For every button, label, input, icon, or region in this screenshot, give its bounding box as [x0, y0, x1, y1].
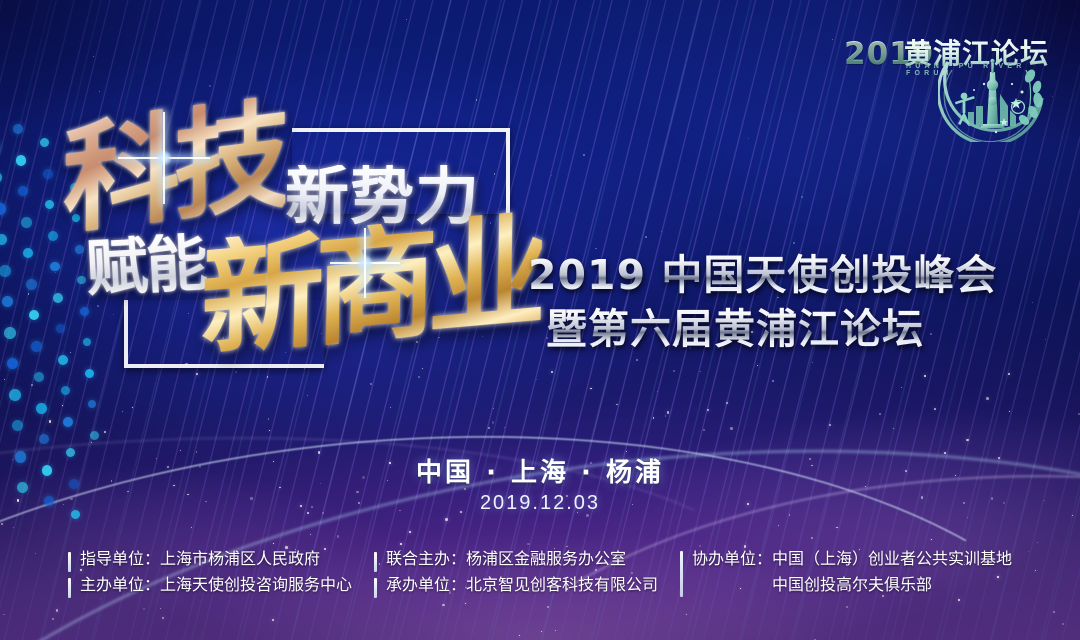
divider-bar [374, 578, 377, 598]
calligraphy-slogan: 新势力 科技 赋能 新商业 [0, 0, 540, 400]
star-dot [493, 408, 494, 409]
star-dot [986, 397, 989, 400]
star-dot [337, 535, 340, 538]
venue-date: 2019.12.03 [0, 492, 1080, 515]
star-dot [1037, 542, 1038, 543]
star-dot [409, 531, 411, 533]
double-bar-divider [374, 548, 377, 598]
star-dot [726, 402, 728, 404]
star-dot [390, 407, 391, 408]
matrix-dot [12, 420, 23, 431]
star-dot [13, 527, 14, 528]
star-dot [893, 428, 894, 429]
headline-line-2: 暨第六届黄浦江论坛 [546, 302, 1048, 356]
star-dot [541, 631, 542, 632]
star-dot [699, 545, 701, 547]
star-dot [1053, 611, 1055, 613]
star-dot [653, 417, 655, 419]
star-dot [445, 518, 448, 521]
star-dot [191, 527, 192, 528]
crescent-skyline-emblem-icon [938, 54, 1058, 142]
venue-location: 中国 · 上海 · 杨浦 [0, 452, 1080, 489]
star-dot [811, 537, 813, 539]
star-dot [3, 614, 4, 615]
matrix-dot [63, 417, 73, 427]
credits-column: 协办单位：中国（上海）创业者公共实训基地 中国创投高尔夫俱乐部 [680, 548, 1012, 597]
star-dot [967, 517, 968, 518]
star-dot [566, 546, 568, 548]
double-bar-divider [68, 548, 71, 598]
star-dot [730, 427, 733, 430]
star-dot [492, 421, 495, 424]
credit-line: 协办单位：中国（上海）创业者公共实训基地 [692, 548, 1012, 569]
star-dot [1062, 623, 1065, 626]
star-dot [132, 407, 133, 408]
star-dot [268, 418, 270, 420]
poster-canvas: 2019 黄浦江论坛 HUANG PU RIVER FORUM [0, 0, 1080, 640]
star-dot [836, 527, 838, 529]
star-dot [778, 525, 779, 526]
star-dot [1, 523, 3, 525]
credit-line: 中国创投高尔夫俱乐部 [692, 574, 1012, 595]
star-dot [555, 630, 556, 631]
star-dot [703, 429, 706, 432]
divider-bar [68, 578, 71, 598]
star-dot [636, 359, 638, 361]
calligraphy-line1-left: 科技 [63, 94, 285, 240]
star-dot [1009, 411, 1010, 412]
star-dot [91, 442, 92, 443]
star-dot [757, 365, 758, 366]
star-dot [527, 543, 530, 546]
star-dot [551, 371, 553, 373]
star-dot [793, 242, 794, 243]
star-dot [590, 388, 591, 389]
star-dot [488, 427, 490, 429]
star-dot [122, 411, 123, 412]
star-dot [519, 635, 520, 636]
credits-column: 联合主办：杨浦区金融服务办公室 承办单位：北京智见创客科技有限公司 [374, 548, 680, 598]
star-dot [657, 391, 659, 393]
star-dot [934, 408, 936, 410]
star-dot [924, 375, 926, 377]
credit-line: 联合主办：杨浦区金融服务办公室 [386, 548, 658, 569]
credits-column: 指导单位：上海市杨浦区人民政府 主办单位：上海天使创投咨询服务中心 [68, 548, 374, 598]
matrix-dot [39, 434, 49, 444]
star-dot [901, 387, 902, 388]
star-dot [966, 439, 969, 442]
star-dot [748, 138, 749, 139]
star-dot [1078, 413, 1080, 415]
star-dot [829, 424, 831, 426]
star-dot [801, 196, 803, 198]
star-dot [62, 405, 63, 406]
divider-bar [374, 552, 377, 572]
tall-bar-divider [680, 551, 683, 597]
star-dot [812, 362, 813, 363]
star-dot [707, 409, 709, 411]
calligraphy-line2-left: 赋能 [84, 232, 207, 300]
divider-bar [68, 552, 71, 572]
star-dot [665, 415, 667, 417]
forum-logo: 2019 黄浦江论坛 HUANG PU RIVER FORUM [842, 22, 1072, 142]
star-dot [645, 236, 647, 238]
star-dot [162, 617, 164, 619]
matrix-dot [88, 400, 96, 408]
matrix-dot [90, 431, 99, 440]
star-dot [400, 543, 402, 545]
star-dot [49, 420, 51, 422]
calligraphy-line2-right: 新商业 [200, 210, 543, 364]
star-dot [879, 413, 881, 415]
credit-line: 主办单位：上海天使创投咨询服务中心 [80, 574, 352, 595]
credit-line: 指导单位：上海市杨浦区人民政府 [80, 548, 352, 569]
star-dot [310, 534, 311, 535]
star-dot [551, 175, 552, 176]
credits-footer: 指导单位：上海市杨浦区人民政府 主办单位：上海天使创投咨询服务中心 联合主办：杨… [0, 548, 1080, 610]
star-dot [686, 614, 687, 615]
event-headline: 2019 中国天使创投峰会 暨第六届黄浦江论坛 [528, 248, 1048, 356]
star-dot [931, 539, 932, 540]
star-dot [832, 39, 833, 40]
star-dot [52, 618, 54, 620]
matrix-dot [36, 403, 47, 414]
star-dot [661, 231, 662, 232]
star-dot [1008, 373, 1010, 375]
star-dot [272, 619, 274, 621]
star-dot [583, 154, 585, 156]
credit-line: 承办单位：北京智见创客科技有限公司 [386, 574, 658, 595]
star-dot [700, 371, 701, 372]
star-dot [269, 430, 270, 431]
headline-line-1: 2019 中国天使创投峰会 [528, 248, 1048, 302]
star-dot [273, 543, 274, 544]
star-dot [504, 427, 506, 429]
star-dot [104, 431, 106, 433]
star-dot [616, 404, 617, 405]
star-dot [772, 380, 774, 382]
star-dot [673, 370, 675, 372]
star-dot [667, 411, 670, 414]
